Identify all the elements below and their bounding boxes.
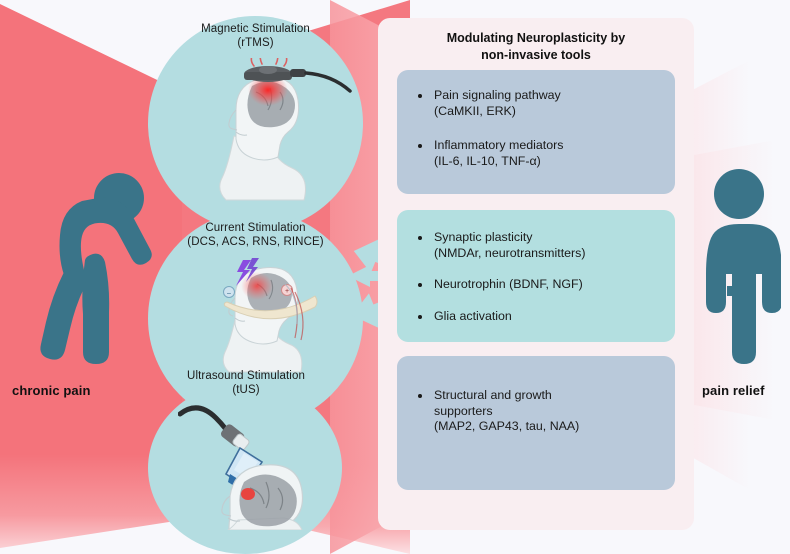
modality-label-magnetic: Magnetic Stimulation (rTMS)	[148, 22, 363, 50]
list-item: Neurotrophin (BDNF, NGF)	[415, 277, 659, 293]
svg-text:–: –	[227, 290, 231, 297]
list-item: Structural and growth supporters (MAP2, …	[415, 388, 659, 435]
svg-text:+: +	[285, 288, 289, 295]
head-with-tms-coil-icon	[196, 58, 356, 208]
panel-title: Modulating Neuroplasticity by non-invasi…	[378, 30, 694, 64]
list-item: Glia activation	[415, 309, 659, 325]
modality-label-ultrasound: Ultrasound Stimulation (tUS)	[146, 369, 346, 397]
chronic-pain-caption: chronic pain	[12, 383, 91, 398]
modality-label-current: Current Stimulation (DCS, ACS, RNS, RINC…	[140, 221, 371, 249]
mechanism-box-structural: Structural and growth supporters (MAP2, …	[397, 356, 675, 490]
list-item: Synaptic plasticity (NMDAr, neurotransmi…	[415, 230, 659, 261]
head-with-electrode-band-icon: – +	[205, 258, 345, 376]
bullet-list: Synaptic plasticity (NMDAr, neurotransmi…	[415, 230, 659, 324]
bullet-list: Structural and growth supporters (MAP2, …	[415, 388, 659, 435]
list-item: Pain signaling pathway (CaMKII, ERK)	[415, 88, 659, 119]
hunched-person-silhouette	[30, 165, 160, 370]
pain-relief-caption: pain relief	[702, 383, 765, 398]
mechanism-box-signaling: Pain signaling pathway (CaMKII, ERK) Inf…	[397, 70, 675, 194]
bullet-list: Pain signaling pathway (CaMKII, ERK) Inf…	[415, 88, 659, 169]
mechanism-box-plasticity: Synaptic plasticity (NMDAr, neurotransmi…	[397, 210, 675, 342]
head-with-ultrasound-transducer-icon	[178, 400, 353, 530]
figure-canvas: – + Magnetic Stimulation (rTMS)	[0, 0, 790, 554]
standing-person-silhouette	[697, 168, 781, 373]
list-item: Inflammatory mediators (IL-6, IL-10, TNF…	[415, 138, 659, 169]
